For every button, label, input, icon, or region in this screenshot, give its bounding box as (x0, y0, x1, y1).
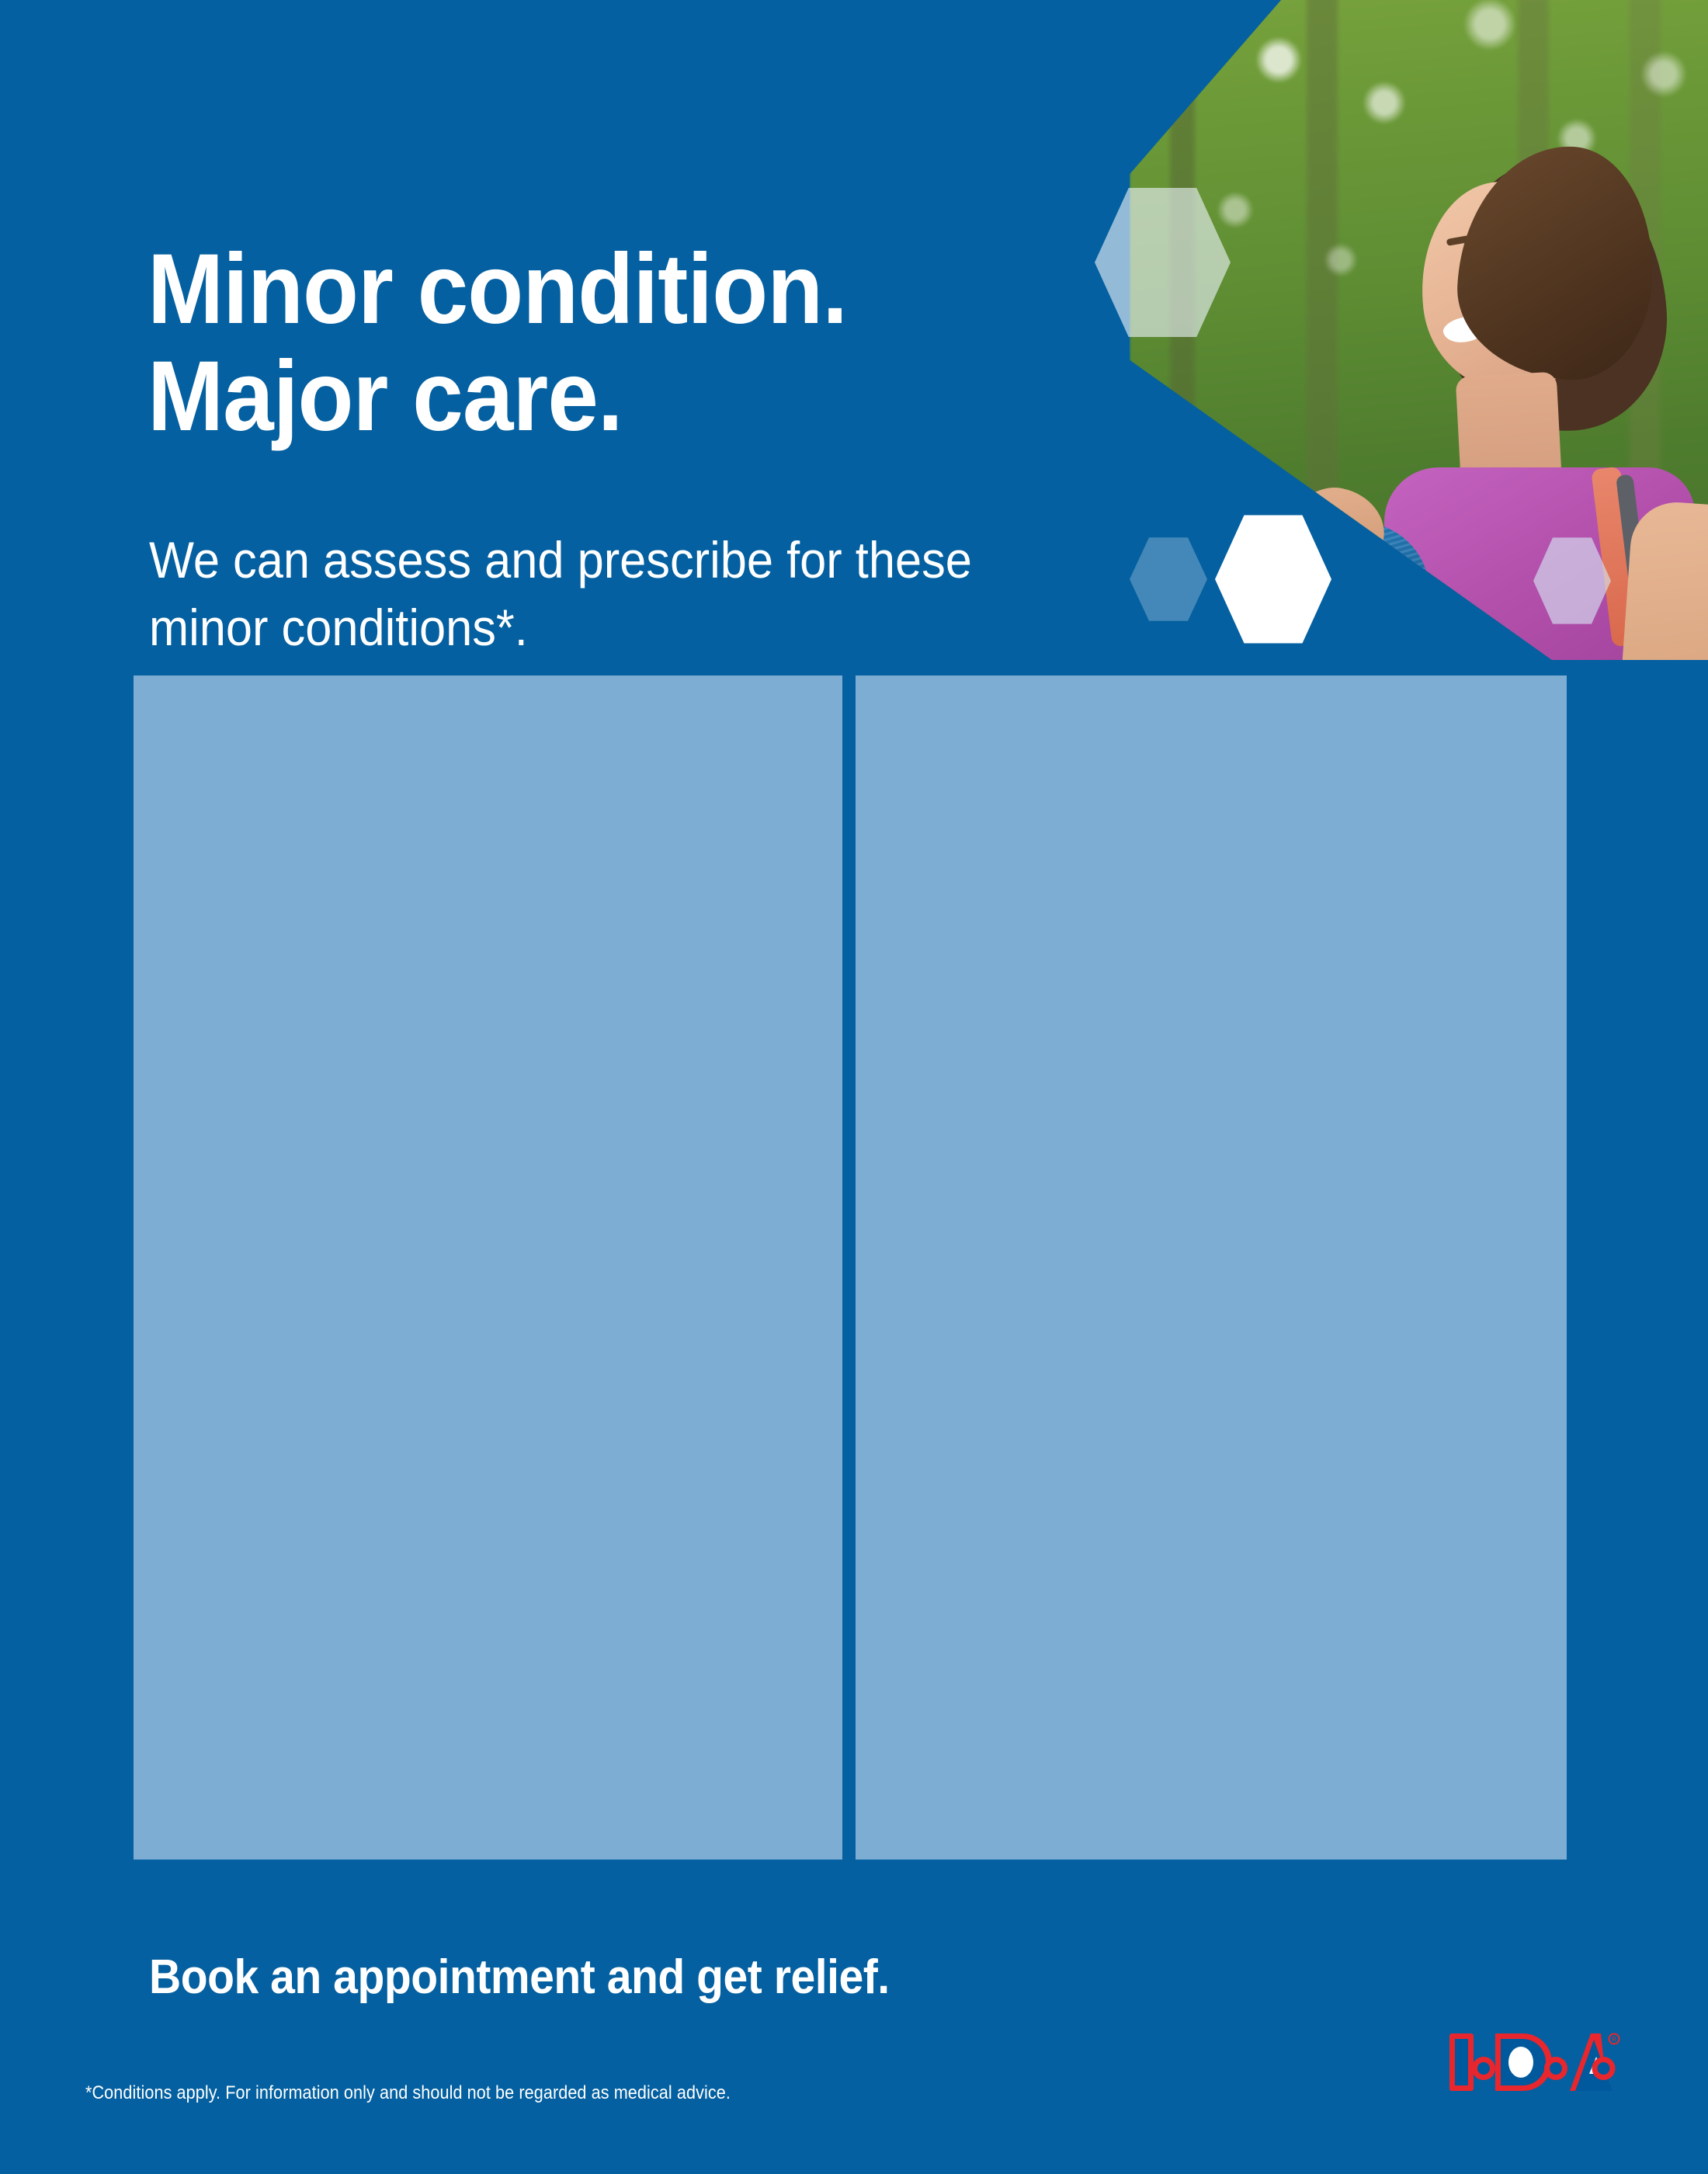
subtitle: We can assess and prescribe for these mi… (149, 526, 1001, 662)
subtitle-line-1: We can assess and prescribe for these (149, 526, 1001, 594)
headline-line-1: Minor condition. (148, 236, 976, 343)
cta-heading: Book an appointment and get relief. (149, 1951, 890, 2004)
hero-photo (1130, 0, 1708, 660)
poster-canvas: Minor condition. Major care. We can asse… (0, 0, 1708, 2174)
panel-right (856, 675, 1567, 1860)
disclaimer-text: *Conditions apply. For information only … (85, 2082, 731, 2104)
content-panels (134, 675, 1567, 1860)
headline-line-2: Major care. (148, 343, 976, 450)
svg-text:R: R (1612, 2036, 1616, 2043)
hexagon-icon-white (1215, 512, 1331, 646)
hexagon-icon-mid-blue (1130, 536, 1207, 623)
page-title: Minor condition. Major care. (148, 236, 976, 450)
ida-logo: R (1446, 2030, 1621, 2094)
subtitle-line-2: minor conditions*. (149, 594, 1001, 662)
panel-left (134, 675, 842, 1860)
